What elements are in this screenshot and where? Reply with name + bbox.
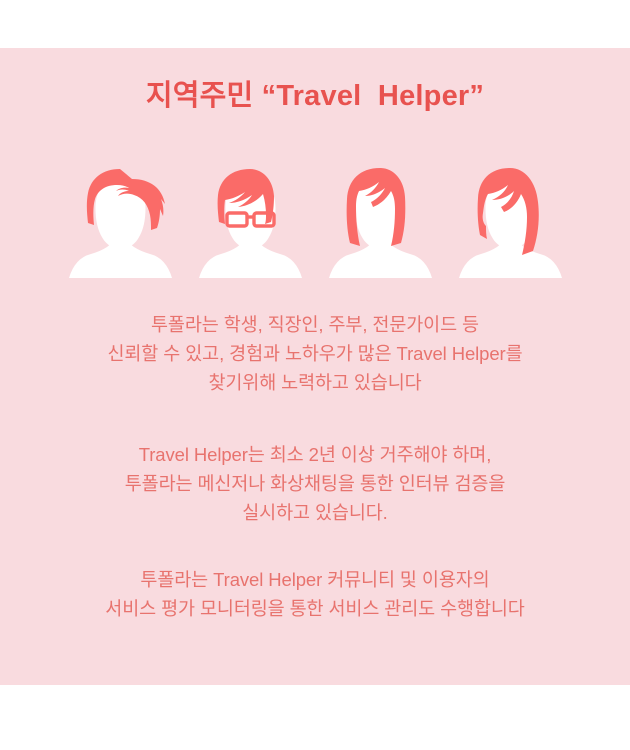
paragraph-community-monitoring: 투폴라는 Travel Helper 커뮤니티 및 이용자의 서비스 평가 모니… <box>0 565 630 623</box>
info-card: 지역주민 “Travel Helper” <box>0 48 630 685</box>
avatar-long-bob-hair <box>326 163 435 278</box>
paragraph-residency-verification: Travel Helper는 최소 2년 이상 거주해야 하며, 투폴라는 메신… <box>0 440 630 527</box>
paragraph-helper-types: 투폴라는 학생, 직장인, 주부, 전문가이드 등 신뢰할 수 있고, 경험과 … <box>0 310 630 397</box>
avatar-glasses <box>196 163 305 278</box>
avatar-asymmetric-bob-hair <box>456 163 565 278</box>
page-title: 지역주민 “Travel Helper” <box>0 79 630 114</box>
avatar-short-spiky-hair <box>66 163 175 278</box>
avatar-row <box>0 160 630 278</box>
